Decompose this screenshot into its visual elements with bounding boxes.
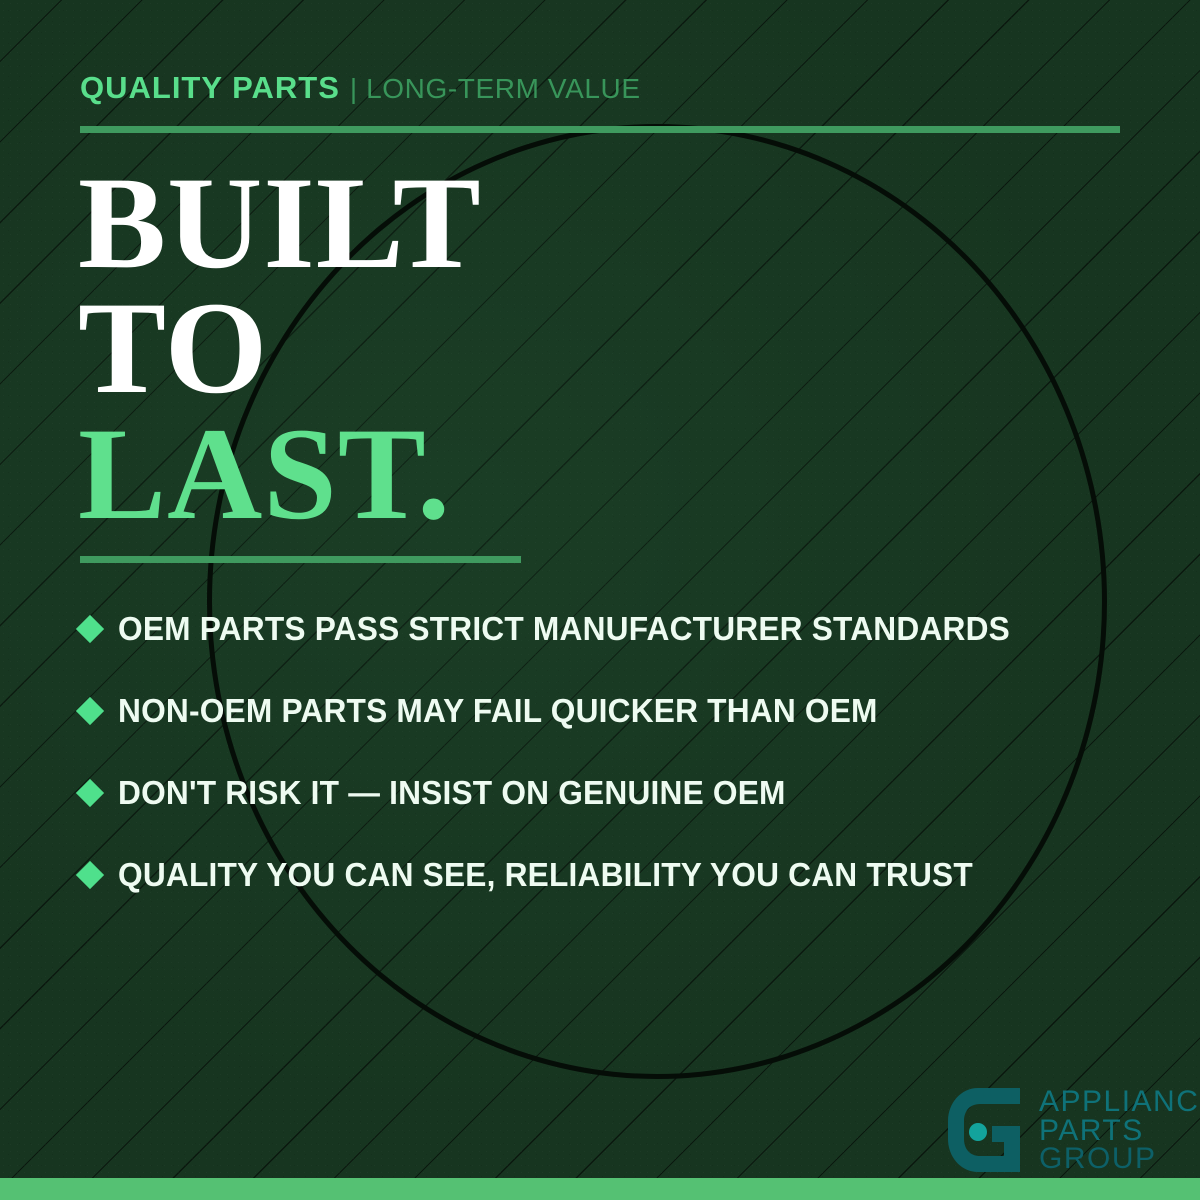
brand-logo-line-2: PARTS [1039, 1117, 1200, 1146]
eyebrow: QUALITY PARTS | LONG-TERM VALUE [80, 70, 641, 106]
poster-canvas: QUALITY PARTS | LONG-TERM VALUE BUILT TO… [0, 0, 1200, 1200]
diamond-bullet-icon [76, 861, 104, 889]
diamond-bullet-icon [76, 615, 104, 643]
list-item-label: OEM PARTS PASS STRICT MANUFACTURER STAND… [118, 610, 1010, 648]
list-item-label: QUALITY YOU CAN SEE, RELIABILITY YOU CAN… [118, 856, 973, 894]
eyebrow-main-label: QUALITY PARTS [80, 70, 340, 106]
eyebrow-sub-label: | LONG-TERM VALUE [350, 73, 641, 105]
brand-logo-wordmark: APPLIANCE PARTS GROUP [1039, 1088, 1200, 1174]
list-item: DON'T RISK IT — INSIST ON GENUINE OEM [80, 752, 1150, 834]
headline-line-3: LAST. [78, 411, 482, 536]
bullet-list: OEM PARTS PASS STRICT MANUFACTURER STAND… [80, 588, 1150, 916]
diamond-bullet-icon [76, 697, 104, 725]
brand-logo: APPLIANCE PARTS GROUP [948, 1088, 1200, 1174]
headline-line-1: BUILT [78, 160, 482, 285]
list-item: OEM PARTS PASS STRICT MANUFACTURER STAND… [80, 588, 1150, 670]
list-item: NON-OEM PARTS MAY FAIL QUICKER THAN OEM [80, 670, 1150, 752]
headline-line-2: TO [78, 285, 482, 410]
brand-logo-line-3: GROUP [1039, 1145, 1200, 1174]
list-item-label: NON-OEM PARTS MAY FAIL QUICKER THAN OEM [118, 692, 878, 730]
list-item: QUALITY YOU CAN SEE, RELIABILITY YOU CAN… [80, 834, 1150, 916]
headline: BUILT TO LAST. [78, 160, 482, 536]
list-item-label: DON'T RISK IT — INSIST ON GENUINE OEM [118, 774, 786, 812]
g-letter-logo-icon [948, 1088, 1026, 1172]
bottom-accent-bar [0, 1178, 1200, 1200]
mid-divider-rule [80, 556, 521, 563]
brand-logo-line-1: APPLIANCE [1039, 1088, 1200, 1117]
diamond-bullet-icon [76, 779, 104, 807]
top-divider-rule [80, 126, 1120, 133]
